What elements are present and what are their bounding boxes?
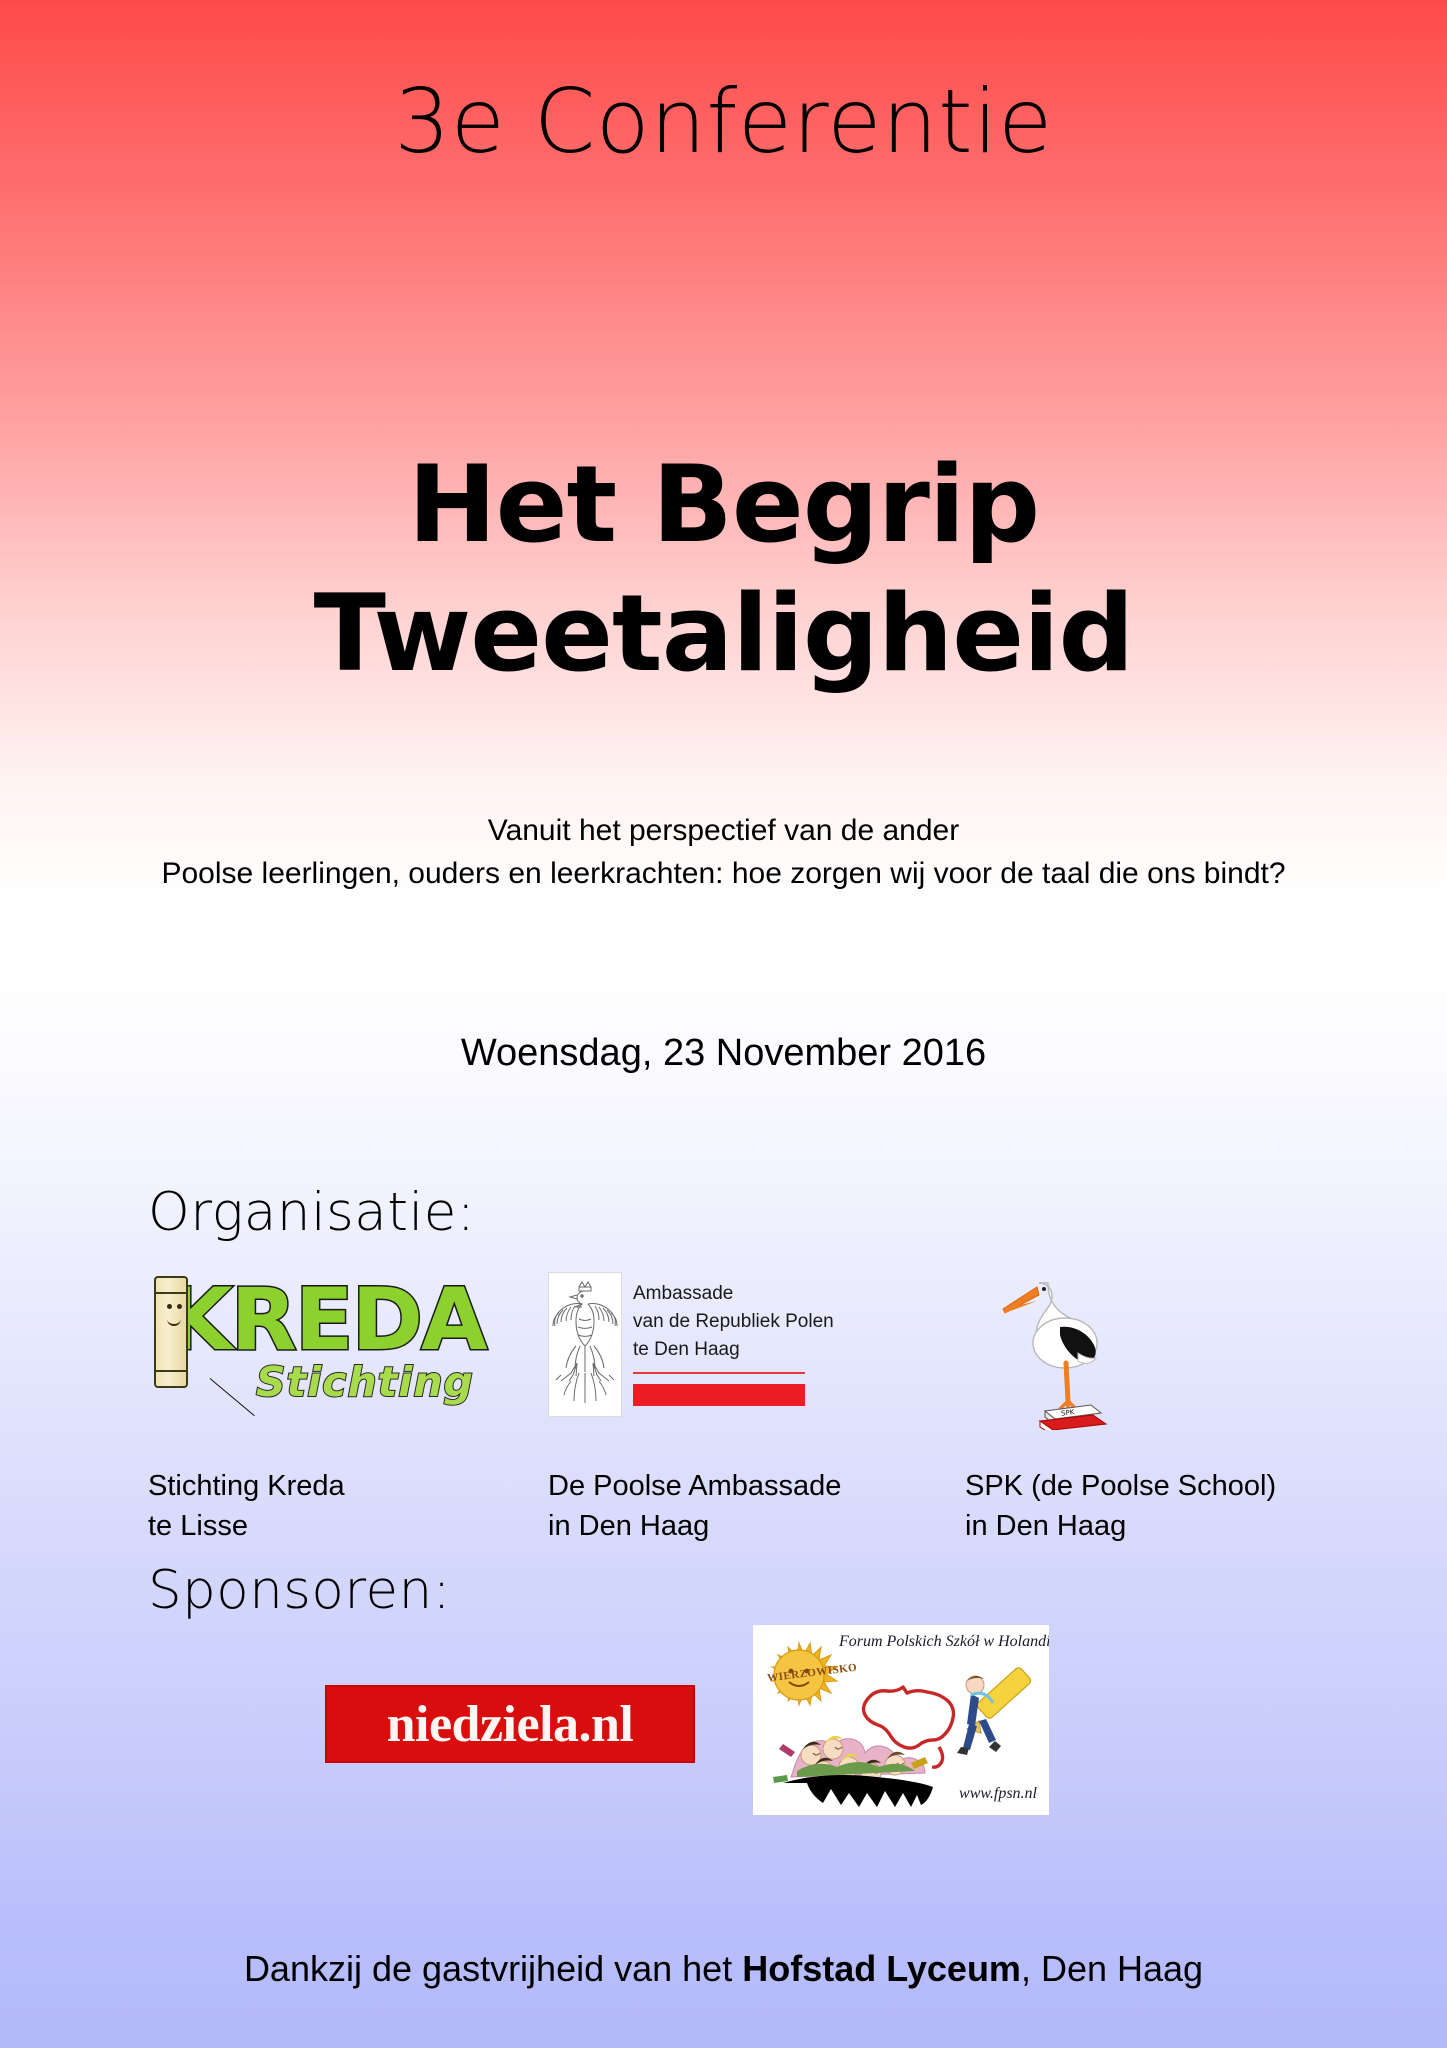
organisatie-heading: Organisatie: bbox=[148, 1182, 475, 1243]
caption-line: Stichting Kreda bbox=[148, 1466, 345, 1506]
boy-with-pencil-icon bbox=[957, 1666, 1032, 1755]
footer-venue: Hofstad Lyceum bbox=[742, 1948, 1021, 1989]
caption-line: te Lisse bbox=[148, 1506, 345, 1546]
kreda-logo: KREDA Stichting bbox=[148, 1270, 478, 1415]
org-item-kreda: KREDA Stichting bbox=[148, 1270, 478, 1415]
title-line-2: Tweetaligheid bbox=[0, 569, 1447, 698]
org-caption-embassy: De Poolse Ambassade in Den Haag bbox=[548, 1466, 841, 1546]
embassy-red-bar bbox=[633, 1384, 805, 1406]
caption-line: De Poolse Ambassade bbox=[548, 1466, 841, 1506]
chalk-mascot-icon bbox=[154, 1276, 188, 1388]
chalk-mouth bbox=[167, 1316, 181, 1326]
kreda-stichting-word: Stichting bbox=[256, 1358, 474, 1406]
subtitle: Vanuit het perspectief van de ander Pool… bbox=[0, 810, 1447, 895]
org-caption-kreda: Stichting Kreda te Lisse bbox=[148, 1466, 345, 1546]
caption-line: in Den Haag bbox=[548, 1506, 841, 1546]
conference-number-heading: 3e Conferentie bbox=[0, 76, 1447, 168]
polish-eagle-icon bbox=[548, 1272, 622, 1417]
org-item-spk: SPK bbox=[965, 1265, 1155, 1425]
chalk-eye-right bbox=[177, 1304, 182, 1309]
kreda-wordmark: KREDA bbox=[166, 1270, 486, 1370]
subtitle-line-2: Poolse leerlingen, ouders en leerkrachte… bbox=[0, 853, 1447, 896]
page-title: Het Begrip Tweetaligheid bbox=[0, 440, 1447, 699]
niedziela-logo[interactable]: niedziela.nl bbox=[325, 1685, 695, 1763]
event-date: Woensdag, 23 November 2016 bbox=[0, 1032, 1447, 1075]
fpsn-url: www.fpsn.nl bbox=[959, 1785, 1037, 1803]
fpsn-title: Forum Polskich Szkół w Holandii bbox=[839, 1633, 1049, 1651]
fpsn-logo[interactable]: Forum Polskich Szkół w Holandii WIERZOWI… bbox=[753, 1625, 1049, 1815]
embassy-line: van de Republiek Polen bbox=[633, 1308, 834, 1336]
caption-line: in Den Haag bbox=[965, 1506, 1276, 1546]
embassy-divider-line bbox=[633, 1372, 805, 1374]
caption-line: SPK (de Poolse School) bbox=[965, 1466, 1276, 1506]
footer-credit: Dankzij de gastvrijheid van het Hofstad … bbox=[0, 1948, 1447, 1990]
embassy-line: Ambassade bbox=[633, 1280, 834, 1308]
footer-after: , Den Haag bbox=[1021, 1948, 1203, 1989]
kreda-pointer-line bbox=[210, 1378, 255, 1416]
footer-before: Dankzij de gastvrijheid van het bbox=[244, 1948, 742, 1989]
org-item-embassy: Ambassade van de Republiek Polen te Den … bbox=[548, 1272, 903, 1422]
niedziela-wordmark: niedziela.nl bbox=[387, 1695, 634, 1754]
subtitle-line-1: Vanuit het perspectief van de ander bbox=[0, 810, 1447, 853]
org-caption-spk: SPK (de Poolse School) in Den Haag bbox=[965, 1466, 1276, 1546]
stork-icon: SPK bbox=[965, 1265, 1155, 1430]
spk-stork-logo: SPK bbox=[965, 1265, 1155, 1425]
spk-book-label: SPK bbox=[1061, 1408, 1076, 1418]
sponsoren-heading: Sponsoren: bbox=[148, 1560, 451, 1621]
title-line-1: Het Begrip bbox=[0, 440, 1447, 569]
embassy-text-block: Ambassade van de Republiek Polen te Den … bbox=[633, 1280, 834, 1364]
conference-poster: 3e Conferentie Het Begrip Tweetaligheid … bbox=[0, 0, 1447, 2048]
polish-embassy-logo: Ambassade van de Republiek Polen te Den … bbox=[548, 1272, 903, 1422]
embassy-line: te Den Haag bbox=[633, 1336, 834, 1364]
chalk-eye-left bbox=[167, 1304, 172, 1309]
